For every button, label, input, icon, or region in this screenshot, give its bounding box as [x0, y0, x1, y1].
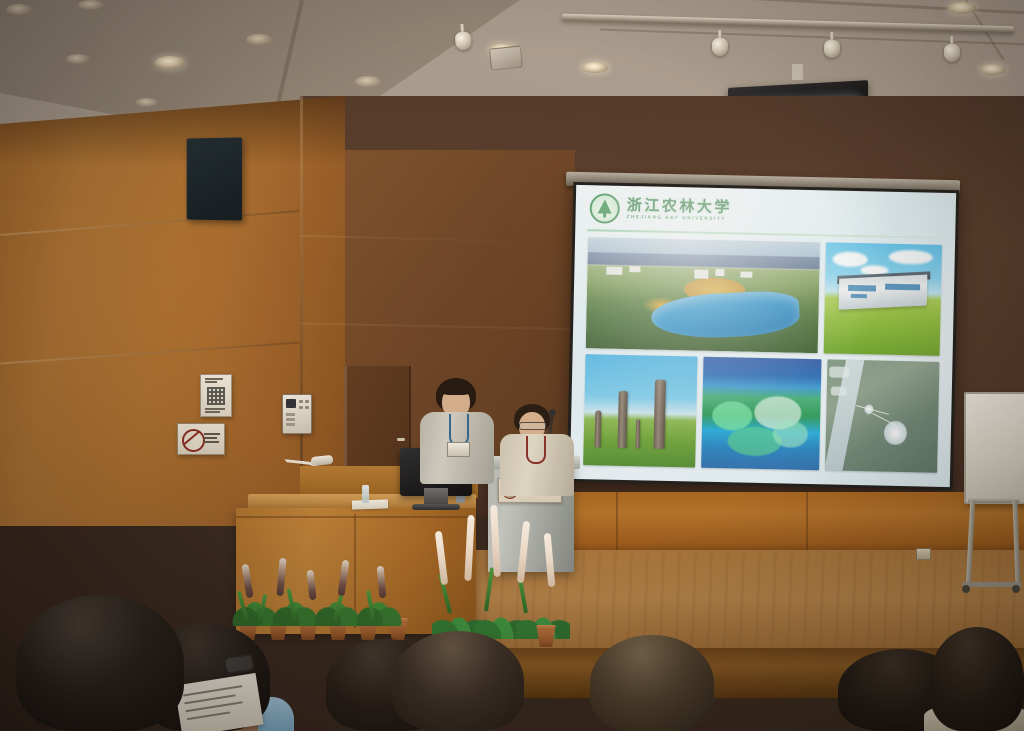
wall-power-outlet — [916, 548, 931, 560]
slide-photo-stone-pillars — [583, 354, 698, 467]
qr-poster — [200, 374, 232, 417]
water-bottle — [362, 485, 369, 503]
ceiling-vent — [489, 45, 523, 70]
track-spotlight — [824, 32, 840, 58]
recessed-downlight — [582, 62, 608, 73]
slide-photo-modern-building — [824, 242, 942, 356]
slide-surface: 浙江农林大学 ZHEJIANG A&F UNIVERSITY — [570, 185, 956, 487]
slide-photo-aerial-map — [825, 359, 940, 472]
mobile-whiteboard[interactable] — [958, 392, 1024, 602]
whiteboard-leg — [966, 500, 975, 586]
no-food-sign — [177, 423, 225, 455]
presenter-at-podium — [500, 404, 574, 496]
recessed-downlight — [66, 54, 90, 64]
track-spotlight — [454, 23, 472, 50]
slide-photo-campus-panorama — [586, 237, 820, 353]
audience-member — [392, 619, 524, 731]
university-name-cn: 浙江农林大学 — [627, 198, 732, 215]
university-name-block: 浙江农林大学 ZHEJIANG A&F UNIVERSITY — [627, 198, 732, 222]
audience-member — [16, 581, 184, 731]
whiteboard-caster — [1012, 585, 1020, 593]
recessed-downlight — [948, 2, 976, 14]
presenter-name-badge — [447, 442, 470, 457]
track-spotlight — [712, 30, 728, 56]
track-spotlight — [944, 36, 960, 62]
projector-mount — [792, 64, 803, 80]
university-name-en: ZHEJIANG A&F UNIVERSITY — [627, 215, 732, 222]
glasses-icon — [519, 422, 547, 430]
qr-code-icon — [207, 387, 225, 405]
conference-hall-photo: 浙江农林大学 ZHEJIANG A&F UNIVERSITY — [0, 0, 1024, 731]
recessed-downlight — [980, 64, 1006, 75]
slide-photo-grid-row-2 — [583, 354, 939, 473]
presenter-standing — [418, 378, 496, 483]
audience-member — [930, 611, 1024, 731]
recessed-downlight — [355, 76, 381, 87]
recessed-downlight — [6, 4, 32, 15]
door-handle[interactable] — [397, 438, 405, 441]
slide-photo-lakeside-pavilion — [701, 357, 821, 471]
presenter-fringe — [439, 382, 473, 395]
stage-back-wainscot — [560, 492, 1024, 554]
av-panel-display — [286, 399, 296, 408]
presenter-lanyard — [526, 436, 546, 464]
projection-screen: 浙江农林大学 ZHEJIANG A&F UNIVERSITY — [567, 182, 959, 490]
audience-member — [590, 627, 714, 731]
wall-speaker — [187, 137, 242, 220]
recessed-downlight — [78, 0, 104, 10]
recessed-downlight — [136, 98, 158, 107]
papers-on-desk — [352, 499, 388, 509]
recessed-downlight — [246, 34, 272, 45]
recessed-downlight — [155, 56, 185, 69]
whiteboard-caster — [962, 585, 970, 593]
whiteboard-surface[interactable] — [964, 392, 1024, 504]
university-emblem-icon — [589, 193, 620, 224]
slide-photo-grid — [583, 237, 942, 473]
av-control-panel[interactable] — [282, 394, 312, 434]
whiteboard-leg — [1013, 500, 1021, 586]
